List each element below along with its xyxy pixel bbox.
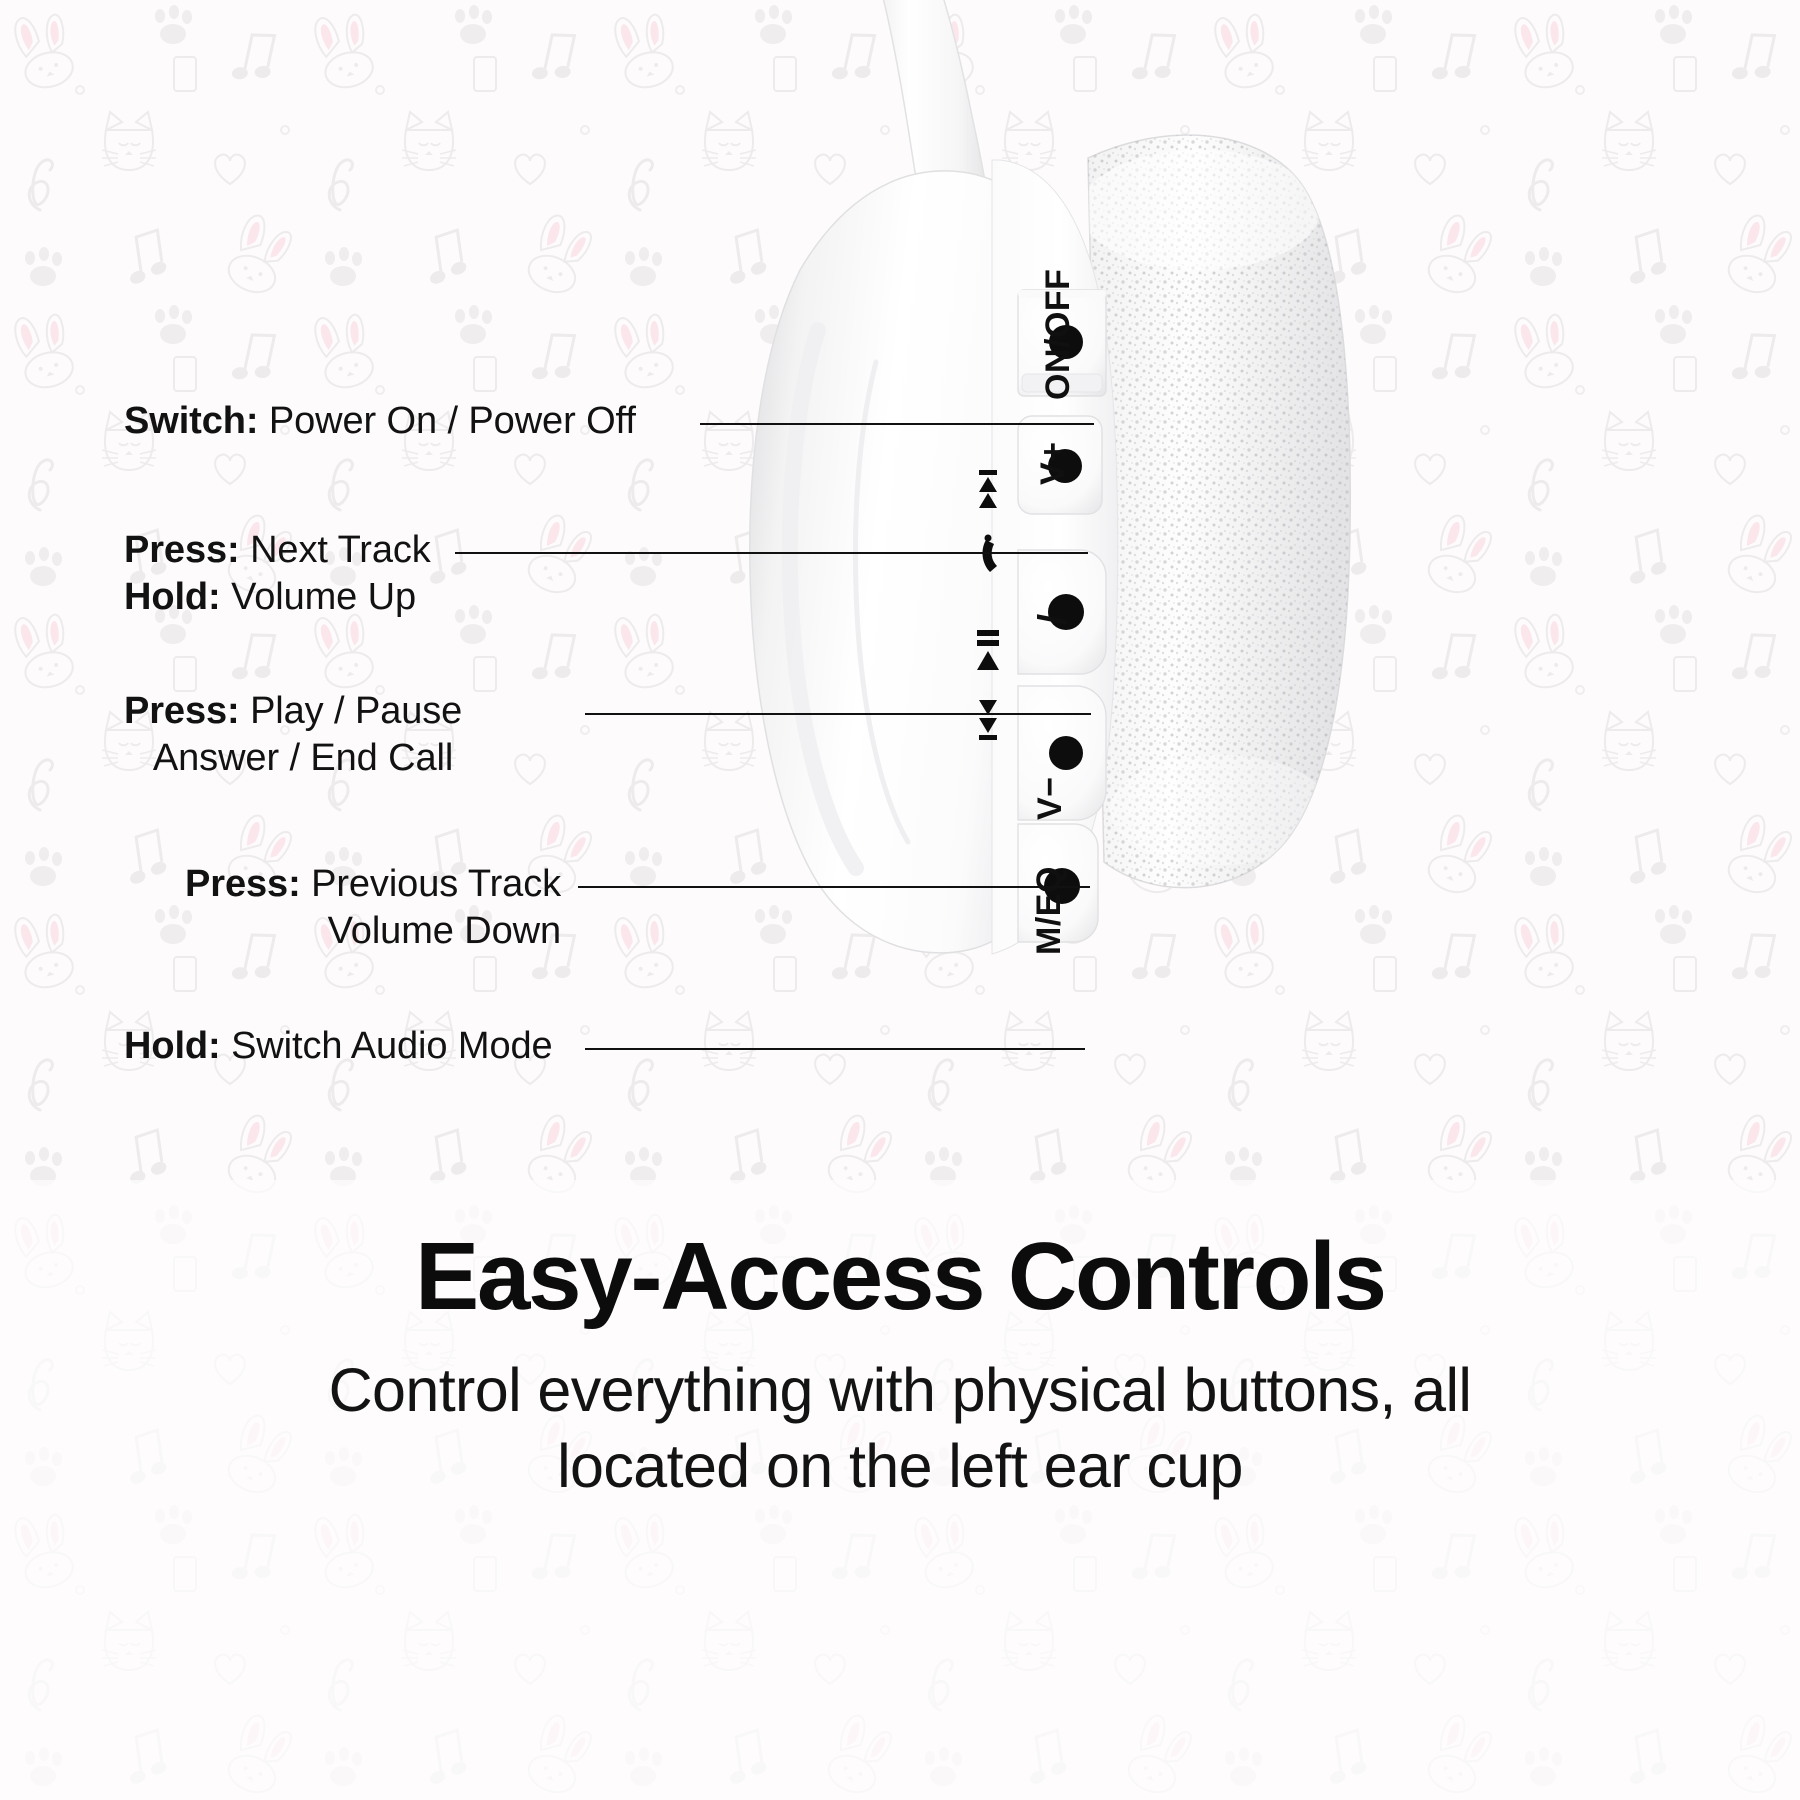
callout-audio-mode-prefix-1: Hold: [124, 1025, 221, 1067]
callout-play-pause-line-1: Press: Play / Pause [124, 688, 462, 735]
callout-power-prefix-1: Switch: [124, 400, 258, 442]
button-label-volume-down: V− [1031, 776, 1070, 820]
callout-play-pause-text-1: Play / Pause [250, 690, 462, 732]
callout-audio-mode-text-1: Switch Audio Mode [231, 1025, 553, 1067]
callout-previous-track-prefix-1: Press: [185, 863, 301, 905]
subheadline-line-2: located on the left ear cup [160, 1428, 1640, 1504]
callout-audio-mode-line-1: Hold: Switch Audio Mode [124, 1023, 553, 1070]
callout-audio-mode: Hold: Switch Audio Mode [124, 1023, 553, 1070]
button-label-on-off: ON/OFF [1039, 269, 1078, 400]
callout-play-pause: Press: Play / Pause Answer / End Call [124, 688, 462, 782]
leader-line-play-pause [585, 713, 1091, 715]
callout-next-track: Press: Next Track Hold: Volume Up [124, 527, 431, 621]
callout-power-text-1: Power On / Power Off [269, 400, 636, 442]
callout-previous-track: Press: Previous Track Volume Down [141, 861, 561, 955]
headphone-illustration [700, 0, 1520, 1150]
callout-power: Switch: Power On / Power Off [124, 398, 636, 445]
leader-line-audio-mode [585, 1048, 1085, 1050]
headline: Easy-Access Controls [0, 1222, 1800, 1332]
button-label-mode-eq: M/EQ [1030, 866, 1069, 955]
subheadline: Control everything with physical buttons… [160, 1352, 1640, 1504]
subheadline-line-1: Control everything with physical buttons… [160, 1352, 1640, 1428]
callout-next-track-text-2: Volume Up [231, 576, 416, 618]
callout-next-track-line-2: Hold: Volume Up [124, 574, 431, 621]
callout-power-line-1: Switch: Power On / Power Off [124, 398, 636, 445]
leader-line-previous-track [578, 886, 1090, 888]
callout-previous-track-line-1: Press: Previous Track [141, 861, 561, 908]
infographic-canvas: ON/OFF V+ / V− M/EQ Switch: Power On / P… [0, 0, 1800, 1800]
callout-next-track-line-1: Press: Next Track [124, 527, 431, 574]
callout-play-pause-line-2: Answer / End Call [124, 735, 462, 782]
button-play-pause [1018, 550, 1106, 674]
leader-line-next-track [455, 552, 1088, 554]
button-label-volume-up: V+ [1034, 441, 1073, 485]
button-label-play-pause-slash: / [1031, 613, 1076, 625]
callout-play-pause-text-2: Answer / End Call [153, 737, 453, 779]
callout-previous-track-text-2: Volume Down [328, 910, 561, 952]
callout-next-track-prefix-1: Press: [124, 529, 240, 571]
callout-previous-track-text-1: Previous Track [311, 863, 561, 905]
callout-next-track-prefix-2: Hold: [124, 576, 221, 618]
callout-next-track-text-1: Next Track [250, 529, 431, 571]
leader-line-power [700, 423, 1094, 425]
callout-play-pause-prefix-1: Press: [124, 690, 240, 732]
callout-previous-track-line-2: Volume Down [141, 908, 561, 955]
